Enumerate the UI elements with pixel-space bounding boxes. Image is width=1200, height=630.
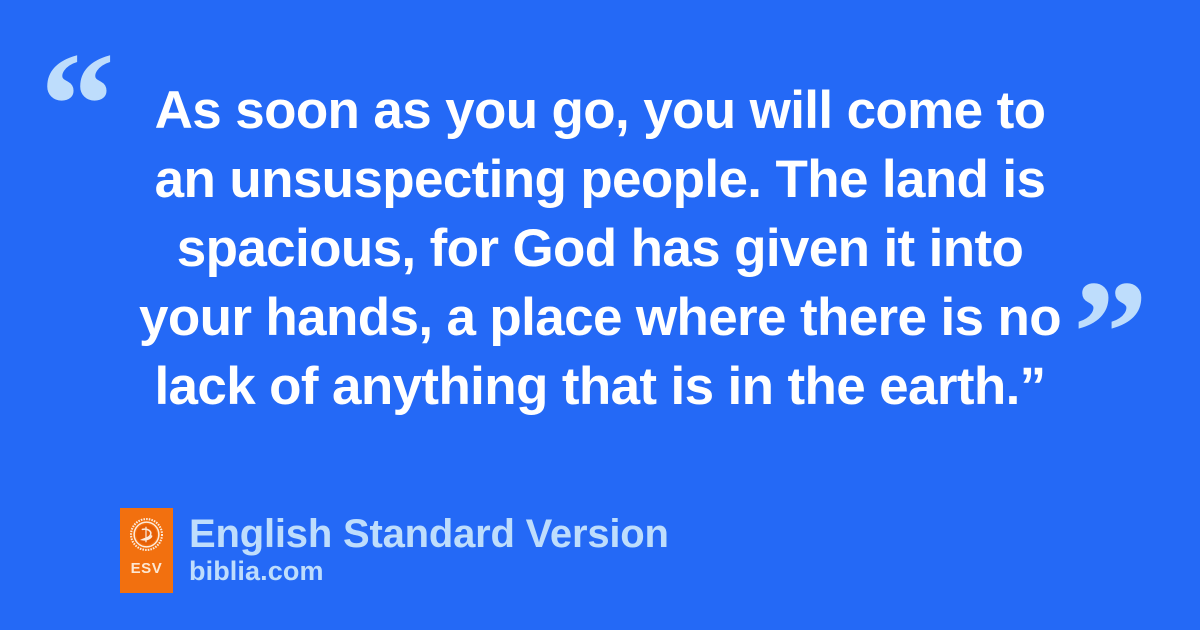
- esv-logo: ESV: [120, 508, 173, 593]
- opening-quotation-mark-icon: “: [40, 30, 112, 180]
- bible-version-name: English Standard Version: [189, 512, 669, 556]
- attribution-text: English Standard Version biblia.com: [189, 508, 669, 586]
- quote-line: an unsuspecting people. The land is: [110, 145, 1090, 214]
- quote-line: lack of anything that is in the earth.”: [110, 352, 1090, 421]
- quote-text: As soon as you go, you will come to an u…: [110, 76, 1090, 421]
- site-url[interactable]: biblia.com: [189, 556, 669, 586]
- quote-line: As soon as you go, you will come to: [110, 76, 1090, 145]
- quote-block: “ As soon as you go, you will come to an…: [0, 0, 1200, 440]
- esv-seal-icon: [130, 518, 163, 551]
- quote-card: “ As soon as you go, you will come to an…: [0, 0, 1200, 630]
- attribution: ESV English Standard Version biblia.com: [120, 508, 669, 593]
- quote-line: your hands, a place where there is no: [110, 283, 1090, 352]
- esv-logo-abbreviation: ESV: [131, 561, 163, 576]
- quote-line: spacious, for God has given it into: [110, 214, 1090, 283]
- closing-quotation-mark-icon: ”: [1073, 258, 1145, 408]
